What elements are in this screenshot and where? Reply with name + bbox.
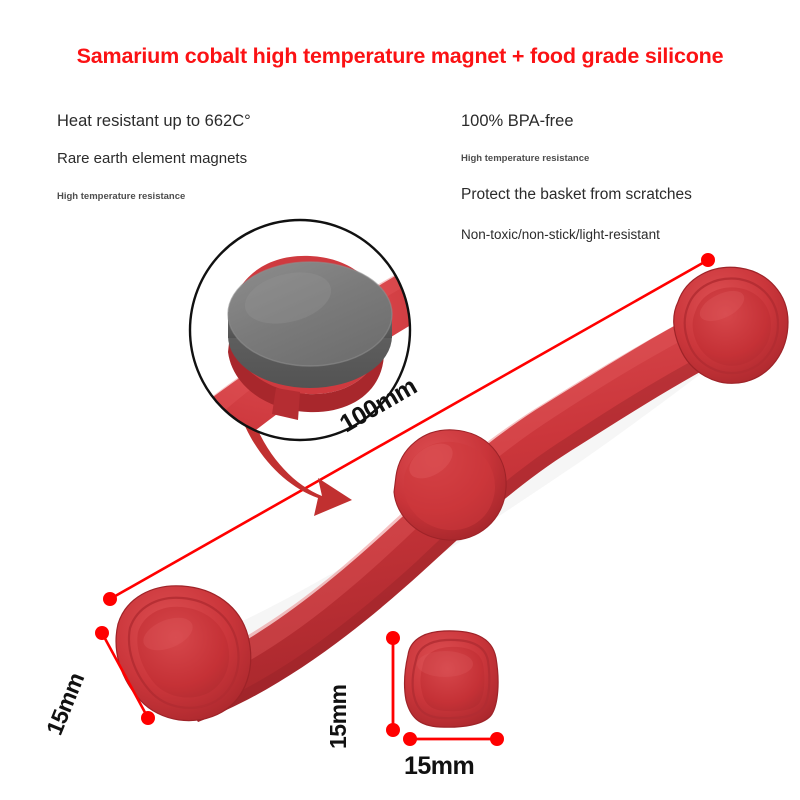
dimension-dot-bottom xyxy=(386,723,400,737)
dimension-label-pad-width: 15mm xyxy=(404,752,474,781)
dimension-dot-top xyxy=(386,631,400,645)
left-end-pad xyxy=(116,586,251,721)
dimension-dot-start xyxy=(103,592,117,606)
dimension-dot-end xyxy=(141,711,155,725)
dimension-line-15mm-pad-width xyxy=(403,732,504,746)
dimension-dot-end xyxy=(701,253,715,267)
dimension-label-pad-height: 15mm xyxy=(325,685,352,749)
dimension-line-15mm-pad-height xyxy=(386,631,400,737)
dimension-dot-start xyxy=(95,626,109,640)
right-end-pad xyxy=(674,267,788,383)
single-pad-top-view xyxy=(405,631,499,727)
infographic-canvas: Samarium cobalt high temperature magnet … xyxy=(0,0,800,800)
dimension-dot-right xyxy=(490,732,504,746)
dimension-dot-left xyxy=(403,732,417,746)
center-magnet-bump xyxy=(394,430,506,540)
